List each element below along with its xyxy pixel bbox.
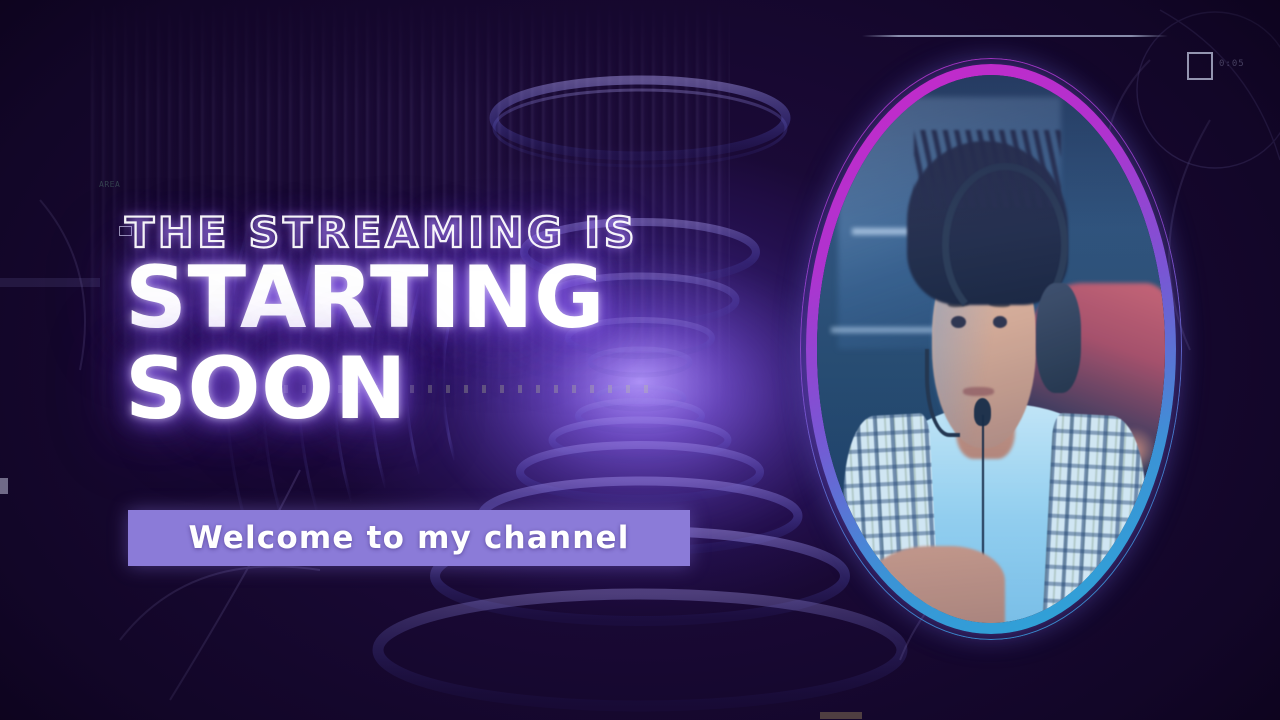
eyebrow-text: THE STREAMING IS (125, 212, 737, 254)
streamer-photo (817, 75, 1165, 623)
stream-overlay-canvas: 0:05 AREA THE STREAMING IS STARTING SOON… (0, 0, 1280, 720)
hud-left-bar (0, 278, 100, 287)
headline-line-2: SOON (125, 345, 725, 434)
portrait-gradient-ring (806, 64, 1176, 634)
hud-top-line (862, 35, 1168, 37)
hud-right-label: 0:05 (1219, 59, 1245, 69)
headline-line-1: STARTING (125, 254, 725, 343)
headline-block: THE STREAMING IS STARTING SOON (125, 212, 725, 433)
hud-bottom-bar (820, 712, 862, 719)
portrait-image (817, 75, 1165, 623)
hud-square-icon (1187, 52, 1213, 80)
portrait-frame (800, 58, 1182, 640)
subtitle-banner: Welcome to my channel (128, 510, 690, 566)
hud-left-label: AREA (99, 180, 120, 189)
hud-left-chip (0, 478, 8, 494)
subtitle-text: Welcome to my channel (188, 520, 629, 556)
